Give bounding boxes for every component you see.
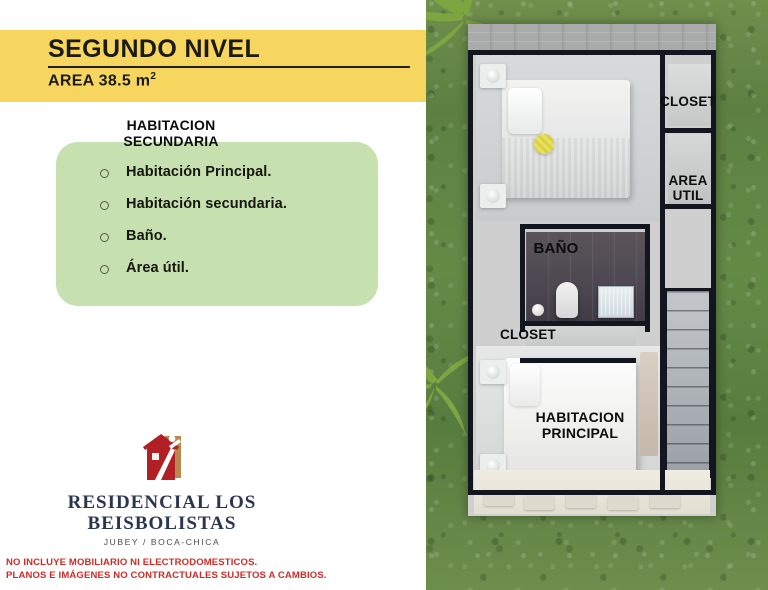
floor-plan-image [426,0,768,590]
paver-stone [566,494,596,508]
cushion-furniture [534,134,554,154]
wall-segment [520,224,525,332]
disclaimer-line-1: NO INCLUYE MOBILIARIO NI ELECTRODOMESTIC… [6,556,416,569]
nightstand-furniture [480,64,506,88]
sink-fixture [532,304,544,316]
dresser-furniture [640,352,658,456]
area-label: AREA 38.5 m2 [48,71,412,90]
staircase [664,288,712,478]
bed-furniture [502,80,630,198]
wall-segment [660,128,716,133]
wall-segment [660,50,665,494]
brand-logo: RESIDENCIAL LOS BEISBOLISTAS JUBEY / BOC… [52,432,272,547]
list-item-label: Área útil. [126,260,189,276]
info-panel: SEGUNDO NIVEL AREA 38.5 m2 Habitación Pr… [0,0,426,590]
circle-outline-bullet-icon [100,201,109,210]
list-item-label: Habitación secundaria. [126,196,287,212]
house-with-baseball-batter-icon [131,432,193,488]
circle-outline-bullet-icon [100,169,109,178]
toilet-fixture [556,282,578,318]
bed-furniture [504,358,636,480]
features-card: Habitación Principal. Habitación secunda… [56,142,378,306]
wall-segment [645,224,650,332]
circle-outline-bullet-icon [100,233,109,242]
wall-segment [468,490,716,495]
room-closet-top [668,64,712,126]
wall-segment [520,224,650,229]
area-value: AREA 38.5 m [48,72,150,89]
features-list: Habitación Principal. Habitación secunda… [56,142,378,276]
list-item: Habitación secundaria. [100,196,378,212]
list-item: Baño. [100,228,378,244]
logo-subtitle: JUBEY / BOCA-CHICA [52,537,272,547]
wall-segment [520,321,650,326]
room-secondary-bedroom [476,52,662,222]
roof-band [468,24,716,52]
room-bathroom [526,232,648,324]
circle-outline-bullet-icon [100,265,109,274]
wall-segment [660,204,716,209]
title-band-content: SEGUNDO NIVEL AREA 38.5 m2 [48,34,412,90]
area-superscript: 2 [150,71,156,82]
disclaimer-text: NO INCLUYE MOBILIARIO NI ELECTRODOMESTIC… [6,556,416,582]
shower-fixture [598,286,634,318]
logo-name-line1: RESIDENCIAL LOS [52,492,272,513]
wall-segment [468,50,473,494]
title-band: SEGUNDO NIVEL AREA 38.5 m2 [0,30,426,102]
disclaimer-line-2: PLANOS E IMÁGENES NO CONTRACTUALES SUJET… [6,569,416,582]
lamp-icon [486,189,500,203]
paver-stone [608,496,638,510]
lamp-icon [486,365,500,379]
list-item: Área útil. [100,260,378,276]
paver-stone [524,496,554,510]
room-area-util [668,134,712,204]
title-underline-divider [48,66,410,68]
list-item: Habitación Principal. [100,164,378,180]
wall-segment [711,50,716,494]
list-item-label: Habitación Principal. [126,164,272,180]
list-item-label: Baño. [126,228,167,244]
nightstand-furniture [480,184,506,208]
lamp-icon [486,69,500,83]
wall-segment [520,358,636,363]
nightstand-furniture [480,360,506,384]
floor-plan-marketing-sheet: SEGUNDO NIVEL AREA 38.5 m2 Habitación Pr… [0,0,768,590]
page-title: SEGUNDO NIVEL [48,34,412,66]
paver-stone [650,494,680,508]
logo-name-line2: BEISBOLISTAS [52,513,272,534]
building-footprint [468,24,716,516]
wall-segment [468,50,716,55]
